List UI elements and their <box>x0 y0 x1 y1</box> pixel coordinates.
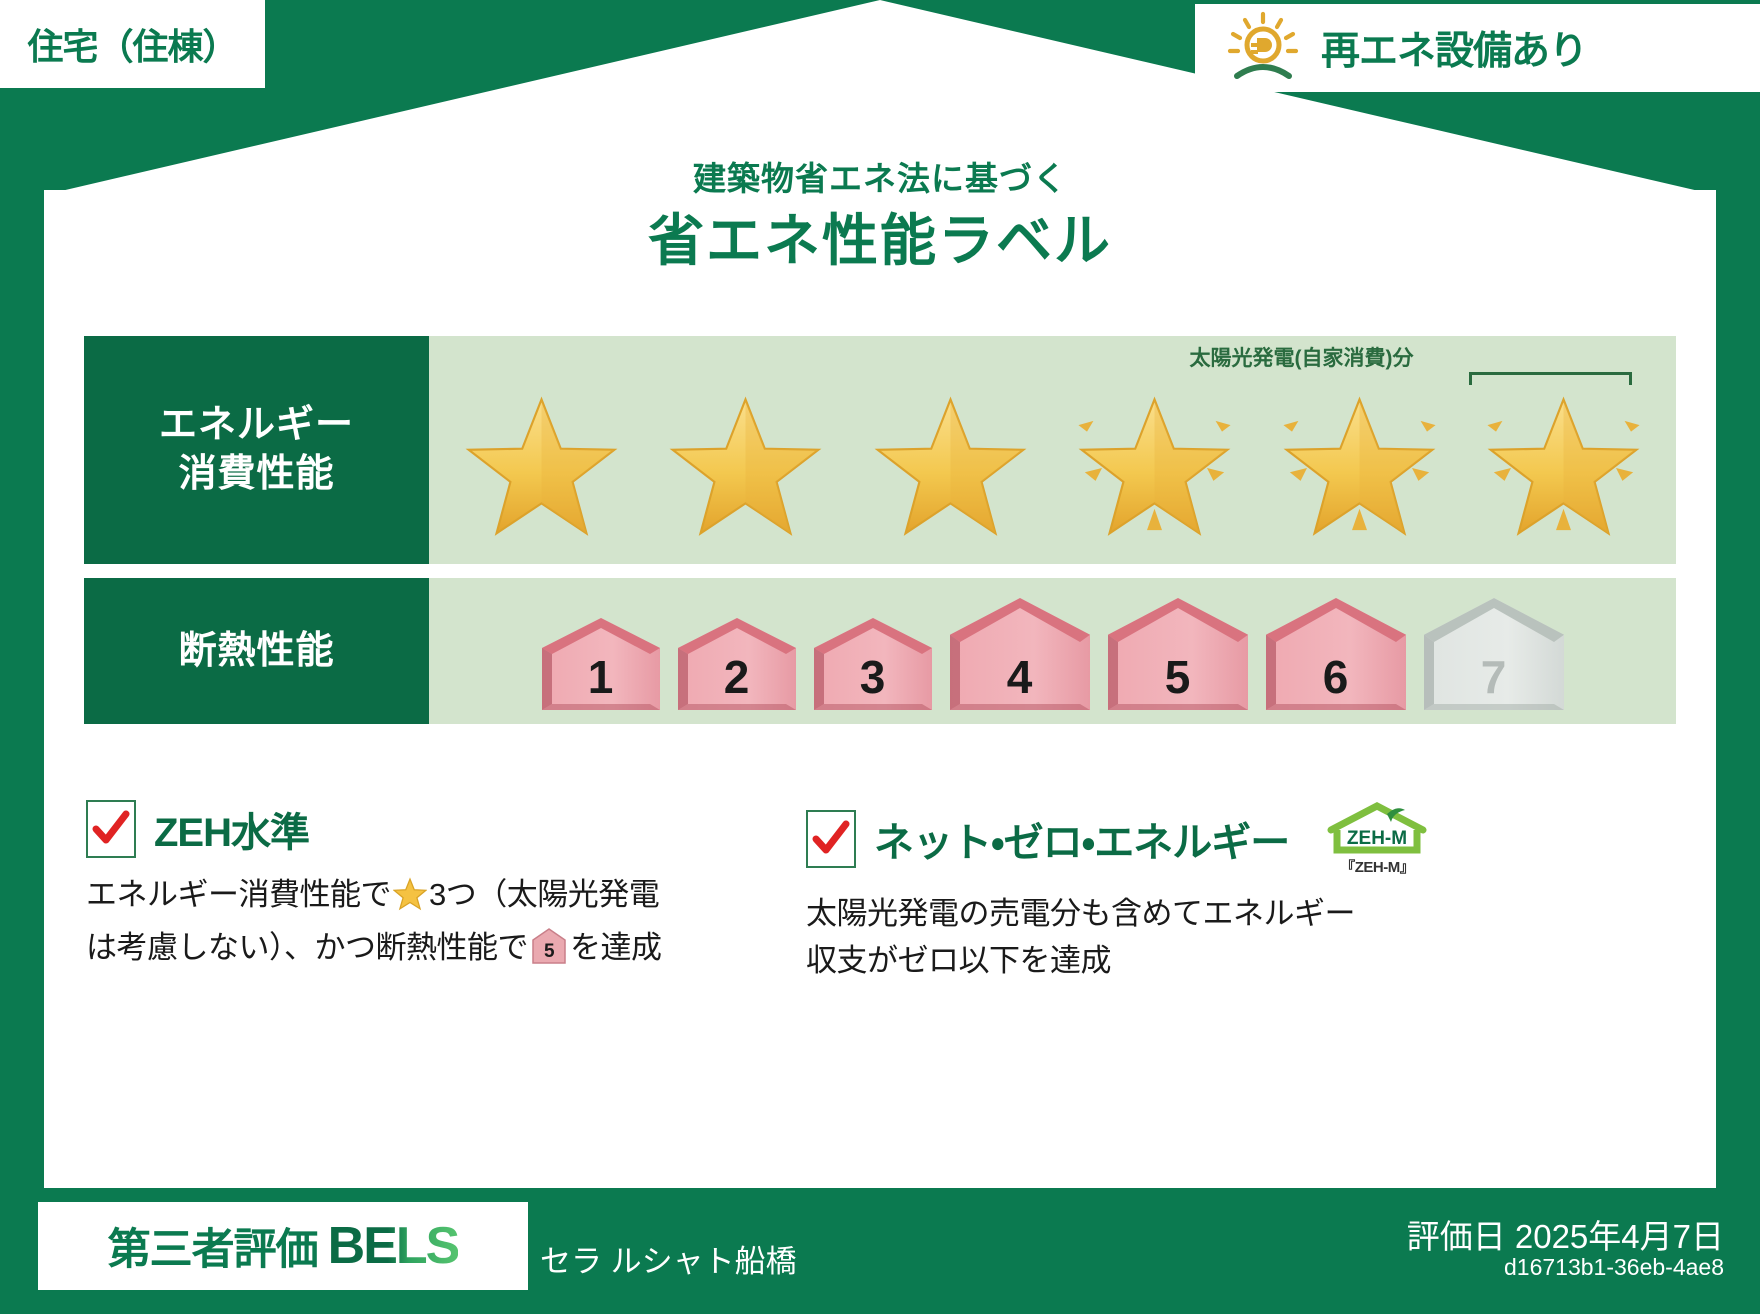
criteria-zeh-header: ZEH水準 <box>86 800 766 858</box>
energy-performance-label: 住宅（住棟） 再エネ設備あり <box>0 0 1760 1314</box>
star-2 <box>663 389 828 549</box>
insulation-performance-row-label: 断熱性能 <box>84 578 429 724</box>
solar-annotation-label: 太陽光発電(自家消費)分 <box>949 342 1654 372</box>
insulation-level-3: 3 <box>808 614 938 714</box>
category-chip: 住宅（住棟） <box>0 0 265 88</box>
zeh-standard-checkbox[interactable] <box>86 800 136 858</box>
insulation-level-4: 4 <box>944 594 1096 714</box>
net-zero-energy-checkbox[interactable] <box>806 810 856 868</box>
insulation-level-number: 3 <box>808 650 938 704</box>
insulation-level-scale: 1 2 <box>439 592 1666 714</box>
star-6 <box>1481 389 1646 549</box>
zeh-m-house-icon: ZEH-M <box>1313 800 1441 856</box>
solar-bracket-icon <box>1469 372 1632 385</box>
insulation-level-2: 2 <box>672 614 802 714</box>
zeh-desc-part1: エネルギー消費性能で <box>86 877 391 912</box>
insulation-level-6: 6 <box>1260 594 1412 714</box>
energy-label-line2: 消費性能 <box>178 450 334 499</box>
insulation-label: 断熱性能 <box>178 627 334 676</box>
evaluation-id: d16713b1-36eb-4ae8 <box>1504 1254 1724 1281</box>
insulation-level-7: 7 <box>1418 594 1570 714</box>
category-chip-label: 住宅（住棟） <box>27 18 237 70</box>
bels-en-label: BELS <box>328 1216 459 1276</box>
energy-performance-row: エネルギー 消費性能 太陽光発電(自家消費)分 <box>84 336 1676 564</box>
check-icon <box>91 808 131 850</box>
energy-label-line1: エネルギー <box>159 401 354 450</box>
net-zero-energy-description: 太陽光発電の売電分も含めてエネルギー 収支がゼロ以下を達成 <box>806 891 1506 984</box>
criteria-nze-header: ネット・ゼロ・エネルギー ZEH-M 『ZEH-M』 <box>806 800 1506 877</box>
insulation-level-number: 5 <box>1102 650 1254 704</box>
zeh-desc-part3: を達成 <box>570 930 662 965</box>
zeh-standard-title: ZEH水準 <box>154 800 309 858</box>
svg-text:5: 5 <box>544 941 555 962</box>
star-5 <box>1277 389 1442 549</box>
insulation-level-number: 1 <box>536 650 666 704</box>
energy-performance-row-label: エネルギー 消費性能 <box>84 336 429 564</box>
insulation-level-number: 7 <box>1418 650 1570 704</box>
insulation-level-5: 5 <box>1102 594 1254 714</box>
insulation-level-number: 6 <box>1260 650 1412 704</box>
insulation-level-1: 1 <box>536 614 666 714</box>
building-name: セラ ルシャト船橋 <box>540 1236 797 1281</box>
insulation-performance-row: 断熱性能 1 <box>84 578 1676 724</box>
insulation-level-number: 2 <box>672 650 802 704</box>
star-1 <box>459 389 624 549</box>
bels-chip: 第三者評価 BELS <box>38 1202 528 1290</box>
zeh-desc-starcount: 3つ（太陽光発電 <box>429 877 659 912</box>
criteria-zeh-standard: ZEH水準 エネルギー消費性能で3つ（太陽光発電は考慮しない）、かつ断熱性能で5… <box>86 800 766 978</box>
energy-performance-row-body: 太陽光発電(自家消費)分 <box>429 336 1676 564</box>
nze-desc-line2: 収支がゼロ以下を達成 <box>806 943 1111 978</box>
star-rating <box>439 388 1666 550</box>
zeh-desc-part2: は考慮しない）、かつ断熱性能で <box>86 930 528 965</box>
zeh-m-logo: ZEH-M 『ZEH-M』 <box>1313 800 1441 877</box>
label-subtitle: 建築物省エネ法に基づく <box>0 152 1760 200</box>
star-4 <box>1072 389 1237 549</box>
bels-jp-label: 第三者評価 <box>108 1215 318 1277</box>
net-zero-energy-title: ネット・ゼロ・エネルギー <box>874 810 1289 868</box>
zeh-m-logo-caption: 『ZEH-M』 <box>1340 856 1414 877</box>
svg-text:ZEH-M: ZEH-M <box>1347 828 1407 849</box>
star-3 <box>868 389 1033 549</box>
page-title: 省エネ性能ラベル <box>0 196 1760 277</box>
inline-star-icon <box>393 877 427 925</box>
renewable-badge-label: 再エネ設備あり <box>1321 20 1587 76</box>
criteria-net-zero-energy: ネット・ゼロ・エネルギー ZEH-M 『ZEH-M』 太陽光発電の売電分も含めて… <box>806 800 1506 984</box>
label-footer: 第三者評価 BELS セラ ルシャト船橋 評価日 2025年4月7日 d1671… <box>0 1188 1760 1314</box>
insulation-performance-row-body: 1 2 <box>429 578 1676 724</box>
insulation-level-number: 4 <box>944 650 1096 704</box>
evaluation-date: 評価日 2025年4月7日 <box>1407 1210 1724 1258</box>
renewable-equipment-badge: 再エネ設備あり <box>1195 4 1760 92</box>
solar-annotation: 太陽光発電(自家消費)分 <box>949 336 1654 376</box>
solar-plug-icon <box>1221 10 1305 87</box>
nze-desc-line1: 太陽光発電の売電分も含めてエネルギー <box>806 896 1355 931</box>
inline-house-icon: 5 <box>531 927 567 979</box>
check-icon <box>811 818 851 860</box>
zeh-standard-description: エネルギー消費性能で3つ（太陽光発電は考慮しない）、かつ断熱性能で5を達成 <box>86 872 766 978</box>
